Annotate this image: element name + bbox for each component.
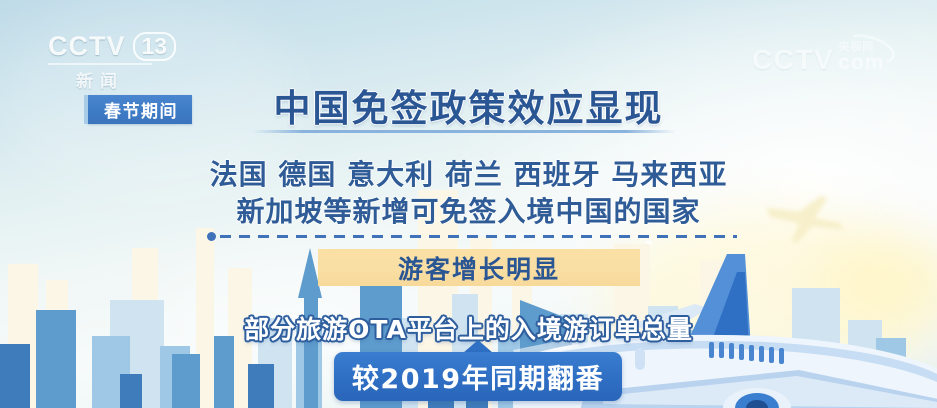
callout-label: 较2019年同期翻番 [352,357,604,396]
cctv-channel-number: 13 [133,32,177,61]
page-title: 中国免签政策效应显现 [0,78,937,132]
cctv-logo-divider [48,63,152,65]
watermark-cctv-text: CCTV [752,44,834,76]
highlight-band: 游客增长明显 [318,249,640,286]
country-list-line-2: 新加坡等新增可免签入境中国的国家 [0,195,937,228]
highlight-band-label: 游客增长明显 [398,250,560,286]
watermark-domain-text: com [838,51,884,75]
cctv-logo-row: CCTV 13 [48,31,198,62]
page-title-underline [252,130,676,133]
country-list-line-1: 法国 德国 意大利 荷兰 西班牙 马来西亚 [0,158,937,191]
sparkle-dot [645,240,652,247]
dashed-divider [207,232,737,240]
cctv-com-watermark: CCTV 央视网 com [752,36,927,76]
bullet-dot-icon [207,232,216,241]
news-graphic-stage: CCTV 13 新闻 CCTV 央视网 com 春节期间 中国免签政策效应显现 … [0,0,937,408]
watermark-cn-text: 央视网 [838,38,874,54]
page-title-text: 中国免签政策效应显现 [274,78,664,132]
watermark-right-group: 央视网 com [838,38,884,75]
cctv-wordmark: CCTV [48,31,126,62]
statistic-callout: 较2019年同期翻番 [334,352,622,401]
country-list: 法国 德国 意大利 荷兰 西班牙 马来西亚 新加坡等新增可免签入境中国的国家 [0,158,937,228]
dashed-line [220,235,737,238]
callout-box: 较2019年同期翻番 [334,352,622,401]
watermark-swoosh-icon [841,29,898,70]
